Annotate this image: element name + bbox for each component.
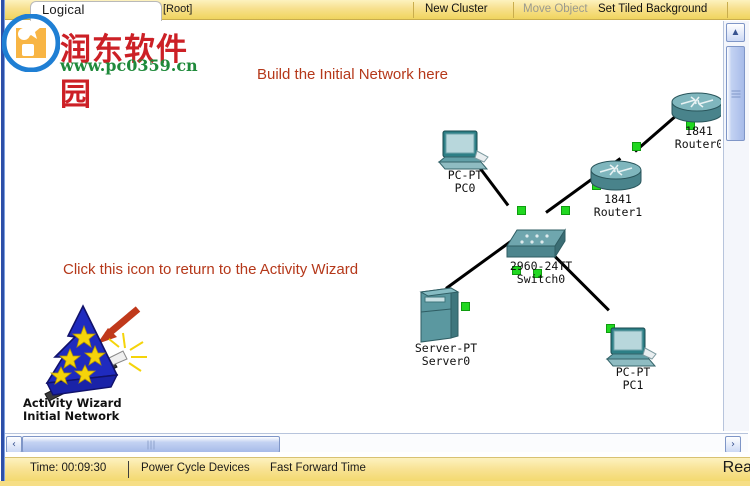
horizontal-scroll-thumb[interactable]	[22, 436, 280, 453]
device-model-server0: Server-PT	[415, 341, 477, 355]
workspace-toolbar: Logical [Root] New Cluster Move Object S…	[5, 0, 750, 20]
panel-gap	[5, 452, 748, 456]
scroll-right-arrow[interactable]: ›	[725, 436, 741, 453]
link-status-dot-sw-r1	[561, 206, 570, 215]
simulation-time: Time: 00:09:30	[30, 462, 106, 474]
scroll-up-arrow[interactable]: ▲	[726, 23, 745, 42]
power-cycle-devices-button[interactable]: Power Cycle Devices	[141, 462, 250, 474]
pc-icon	[605, 326, 661, 368]
device-router0[interactable]: 1841 Router0	[669, 91, 721, 151]
set-tiled-background-button[interactable]: Set Tiled Background	[598, 3, 707, 15]
device-name-pc0: PC0	[455, 181, 476, 195]
pc-icon	[437, 129, 493, 171]
switch-icon	[505, 226, 571, 262]
device-model-router1: 1841	[604, 192, 632, 206]
device-switch0[interactable]: 2960-24TT Switch0	[505, 226, 577, 288]
router-icon	[588, 159, 644, 195]
logical-workspace-canvas[interactable]: Build the Initial Network here Click thi…	[5, 21, 721, 431]
scroll-left-arrow[interactable]: ‹	[6, 436, 22, 453]
breadcrumb-root: [Root]	[163, 3, 192, 15]
toolbar-separator-1	[413, 2, 414, 18]
activity-wizard-label: Activity Wizard Initial Network	[23, 397, 122, 423]
server-icon	[413, 286, 465, 344]
device-model-router0: 1841	[685, 124, 713, 138]
toolbar-separator-3	[727, 2, 728, 18]
device-pc1[interactable]: PC-PT PC1	[605, 326, 661, 388]
canvas-vertical-scrollbar[interactable]: ▲	[723, 21, 749, 431]
router-icon	[669, 91, 721, 127]
link-status-dot-r1-r0	[632, 142, 641, 151]
device-name-router1: Router1	[594, 205, 642, 219]
statusbar-bottom-fill	[0, 481, 750, 486]
fast-forward-time-button[interactable]: Fast Forward Time	[270, 462, 366, 474]
tab-logical-label: Logical	[42, 2, 85, 17]
activity-wizard-name: Activity Wizard	[23, 396, 122, 410]
device-router1[interactable]: 1841 Router1	[588, 159, 648, 219]
statusbar-separator	[128, 461, 129, 478]
device-name-router0: Router0	[675, 137, 721, 151]
device-name-pc1: PC1	[623, 378, 644, 392]
toolbar-separator-2	[513, 2, 514, 18]
activity-wizard-subtitle: Initial Network	[23, 409, 119, 423]
vertical-scroll-thumb[interactable]	[726, 46, 745, 141]
device-name-server0: Server0	[422, 354, 470, 368]
new-cluster-button[interactable]: New Cluster	[425, 3, 488, 15]
link-status-dot-sw-pc0	[517, 206, 526, 215]
device-server0[interactable]: Server-PT Server0	[413, 286, 479, 366]
device-model-switch0: 2960-24TT	[510, 259, 572, 273]
device-model-pc1: PC-PT	[616, 365, 651, 379]
scroll-thumb-grip	[148, 440, 155, 449]
red-arrow-icon	[97, 309, 138, 344]
simulation-status-bar: Time: 00:09:30 Power Cycle Devices Fast …	[5, 457, 750, 481]
move-object-button[interactable]: Move Object	[523, 3, 588, 15]
annotation-click-icon: Click this icon to return to the Activit…	[63, 261, 358, 278]
device-name-switch0: Switch0	[517, 272, 565, 286]
annotation-build-network: Build the Initial Network here	[257, 66, 448, 83]
device-pc0[interactable]: PC-PT PC0	[437, 129, 493, 189]
packet-tracer-window: Logical [Root] New Cluster Move Object S…	[0, 0, 750, 486]
scroll-thumb-grip	[731, 90, 740, 97]
simulation-mode-label: Rea	[723, 459, 750, 477]
device-model-pc0: PC-PT	[448, 168, 483, 182]
